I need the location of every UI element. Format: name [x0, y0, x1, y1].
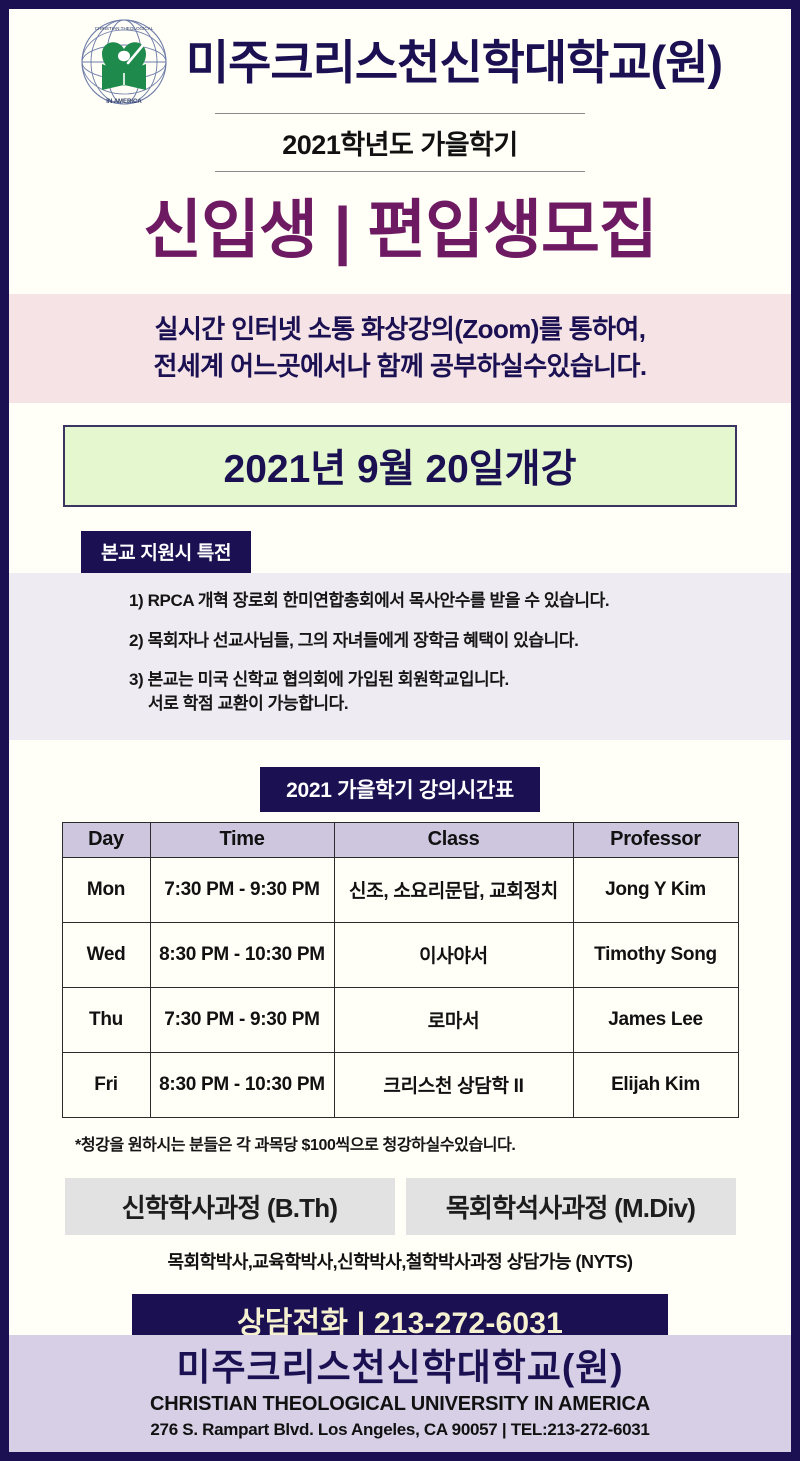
semester-label: 2021학년도 가을학기 [215, 114, 585, 171]
semester-block: 2021학년도 가을학기 [215, 113, 585, 172]
cell-professor: James Lee [573, 987, 738, 1052]
column-header-time: Time [150, 822, 334, 857]
cell-time: 8:30 PM - 10:30 PM [150, 922, 334, 987]
list-item: 1) RPCA 개혁 장로회 한미연합총회에서 목사안수를 받을 수 있습니다. [129, 589, 791, 613]
cell-day: Wed [62, 922, 150, 987]
start-date-text: 2021년 9월 20일개강 [224, 438, 577, 494]
benefits-tag-label: 본교 지원시 특전 [81, 531, 251, 573]
benefits-section: 본교 지원시 특전 1) RPCA 개혁 장로회 한미연합총회에서 목사안수를 … [9, 531, 791, 740]
svg-text:CHRISTIAN THEOLOGICAL: CHRISTIAN THEOLOGICAL [95, 26, 154, 31]
table-row: Wed 8:30 PM - 10:30 PM 이사야서 Timothy Song [62, 922, 738, 987]
table-row: Thu 7:30 PM - 9:30 PM 로마서 James Lee [62, 987, 738, 1052]
cell-class: 크리스천 상담학 II [334, 1052, 573, 1117]
footer-school-name-english: CHRISTIAN THEOLOGICAL UNIVERSITY IN AMER… [9, 1393, 791, 1416]
audit-fee-note: *청강을 원하시는 분들은 각 과목당 $100씩으로 청강하실수있습니다. [75, 1131, 791, 1155]
admission-poster: CHRISTIAN THEOLOGICAL IN AMERICA 미주크리스천신… [0, 0, 800, 1461]
online-class-banner: 실시간 인터넷 소통 화상강의(Zoom)를 통하여, 전세계 어느곳에서나 함… [9, 294, 791, 404]
cell-day: Fri [62, 1052, 150, 1117]
semester-rule-bottom [215, 171, 585, 172]
school-name-header: 미주크리스천신학대학교(원) [186, 39, 722, 86]
benefit-subtext: 서로 학점 교환이 가능합니다. [148, 692, 791, 716]
table-header-row: Day Time Class Professor [62, 822, 738, 857]
schedule-title-wrap: 2021 가을학기 강의시간표 [9, 767, 791, 812]
cell-time: 7:30 PM - 9:30 PM [150, 857, 334, 922]
program-label: 신학학사과정 (B.Th) [122, 1188, 337, 1225]
cell-class: 이사야서 [334, 922, 573, 987]
benefits-panel: 1) RPCA 개혁 장로회 한미연합총회에서 목사안수를 받을 수 있습니다.… [9, 573, 791, 740]
page-title: 신입생 | 편입생모집 [9, 194, 791, 268]
program-box-mdiv: 목회학석사과정 (M.Div) [406, 1178, 736, 1235]
university-logo-icon: CHRISTIAN THEOLOGICAL IN AMERICA [78, 16, 170, 108]
poster-header: CHRISTIAN THEOLOGICAL IN AMERICA 미주크리스천신… [9, 9, 791, 105]
list-item: 3) 본교는 미국 신학교 협의회에 가입된 회원학교입니다. 서로 학점 교환… [129, 668, 791, 716]
cell-professor: Timothy Song [573, 922, 738, 987]
table-row: Fri 8:30 PM - 10:30 PM 크리스천 상담학 II Elija… [62, 1052, 738, 1117]
class-schedule-table: Day Time Class Professor Mon 7:30 PM - 9… [62, 822, 739, 1118]
cell-class: 신조, 소요리문답, 교회정치 [334, 857, 573, 922]
footer-address: 276 S. Rampart Blvd. Los Angeles, CA 900… [9, 1420, 791, 1440]
benefit-text: 2) 목회자나 선교사님들, 그의 자녀들에게 장학금 혜택이 있습니다. [129, 631, 578, 650]
column-header-professor: Professor [573, 822, 738, 857]
cell-professor: Elijah Kim [573, 1052, 738, 1117]
cell-class: 로마서 [334, 987, 573, 1052]
program-box-bth: 신학학사과정 (B.Th) [65, 1178, 395, 1235]
poster-footer: 미주크리스천신학대학교(원) CHRISTIAN THEOLOGICAL UNI… [9, 1335, 791, 1452]
benefit-text: 3) 본교는 미국 신학교 협의회에 가입된 회원학교입니다. [129, 670, 509, 689]
program-label: 목회학석사과정 (M.Div) [446, 1188, 695, 1225]
cell-day: Mon [62, 857, 150, 922]
cell-time: 7:30 PM - 9:30 PM [150, 987, 334, 1052]
start-date-box: 2021년 9월 20일개강 [63, 425, 737, 507]
column-header-day: Day [62, 822, 150, 857]
column-header-class: Class [334, 822, 573, 857]
cell-professor: Jong Y Kim [573, 857, 738, 922]
degree-programs: 신학학사과정 (B.Th) 목회학석사과정 (M.Div) [9, 1178, 791, 1235]
footer-school-name-korean: 미주크리스천신학대학교(원) [9, 1348, 791, 1389]
online-class-line-1: 실시간 인터넷 소통 화상강의(Zoom)를 통하여, [9, 311, 791, 348]
list-item: 2) 목회자나 선교사님들, 그의 자녀들에게 장학금 혜택이 있습니다. [129, 629, 791, 653]
cell-day: Thu [62, 987, 150, 1052]
doctoral-programs-note: 목회학박사,교육학박사,신학박사,철학박사과정 상담가능 (NYTS) [9, 1248, 791, 1274]
svg-text:IN AMERICA: IN AMERICA [106, 99, 142, 105]
cell-time: 8:30 PM - 10:30 PM [150, 1052, 334, 1117]
benefit-text: 1) RPCA 개혁 장로회 한미연합총회에서 목사안수를 받을 수 있습니다. [129, 591, 609, 610]
table-row: Mon 7:30 PM - 9:30 PM 신조, 소요리문답, 교회정치 Jo… [62, 857, 738, 922]
online-class-line-2: 전세계 어느곳에서나 함께 공부하실수있습니다. [9, 348, 791, 385]
schedule-title: 2021 가을학기 강의시간표 [260, 767, 540, 812]
